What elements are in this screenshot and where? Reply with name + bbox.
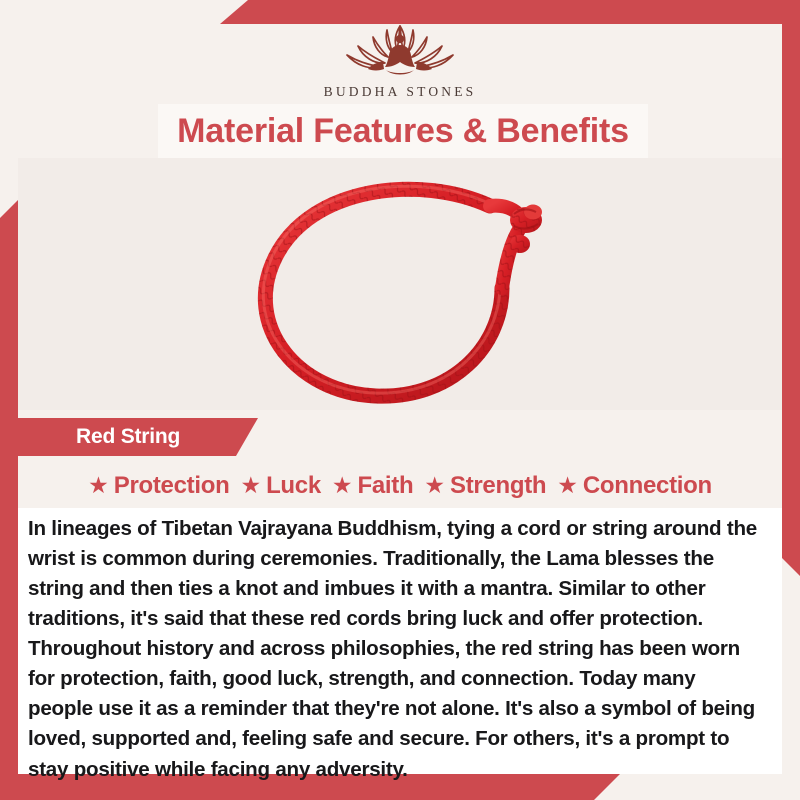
benefit-item: ★ Faith (332, 472, 413, 500)
benefit-item: ★ Luck (240, 472, 320, 500)
hero-product-image (18, 158, 782, 410)
star-icon: ★ (332, 474, 353, 497)
benefit-item: ★ Connection (557, 472, 712, 500)
description-text: In lineages of Tibetan Vajrayana Buddhis… (28, 514, 764, 785)
benefit-item: ★ Protection (88, 472, 229, 500)
material-name-ribbon: Red String (18, 418, 258, 456)
material-name-label: Red String (18, 425, 180, 449)
page-title: Material Features & Benefits (177, 112, 629, 151)
benefit-item: ★ Strength (424, 472, 546, 500)
benefit-label: Connection (583, 472, 712, 500)
benefit-label: Strength (450, 472, 546, 500)
star-icon: ★ (424, 474, 445, 497)
benefit-label: Faith (358, 472, 414, 500)
benefit-label: Protection (114, 472, 230, 500)
benefit-label: Luck (266, 472, 321, 500)
star-icon: ★ (240, 474, 261, 497)
brand-header: BUDDHA STONES (0, 0, 800, 104)
title-banner: Material Features & Benefits (158, 104, 648, 158)
red-braided-string-bracelet-icon (190, 158, 610, 410)
left-accent-band (0, 200, 18, 800)
brand-name: BUDDHA STONES (324, 84, 477, 100)
lotus-meditation-icon (325, 20, 475, 82)
right-accent-band (782, 24, 800, 576)
star-icon: ★ (557, 474, 578, 497)
star-icon: ★ (88, 474, 109, 497)
benefits-row: ★ Protection ★ Luck ★ Faith ★ Strength ★… (18, 463, 782, 508)
description-block: In lineages of Tibetan Vajrayana Buddhis… (18, 508, 782, 774)
